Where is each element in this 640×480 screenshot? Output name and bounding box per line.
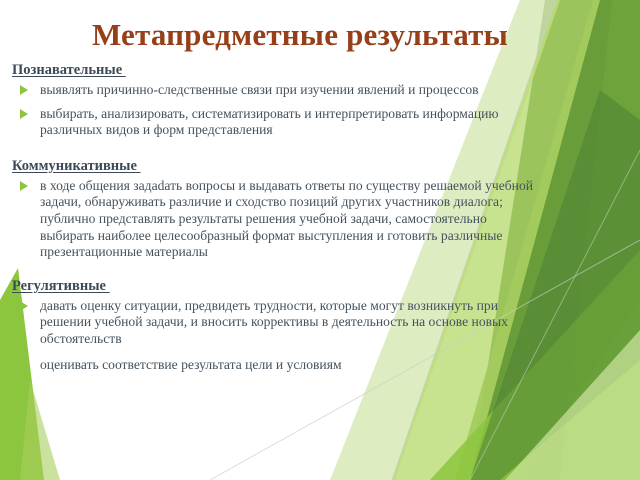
list-item: оценивать соответствие результата цели и… (12, 357, 536, 374)
spacer (12, 147, 536, 157)
decor-wedge-left-pale (20, 380, 60, 480)
decor-band-bright-right (560, 0, 640, 480)
list-item-text: выбирать, анализировать, систематизирова… (40, 106, 499, 138)
list-item: выбирать, анализировать, систематизирова… (12, 106, 536, 139)
triangle-bullet-icon (20, 301, 28, 311)
bullet-list-communicative: в ходе общения задаdать вопросы и выдава… (12, 178, 536, 261)
list-item-text: выявлять причинно-следственные связи при… (40, 82, 479, 97)
bullet-list-regulative: давать оценку ситуации, предвидеть трудн… (12, 298, 536, 373)
triangle-bullet-icon (20, 85, 28, 95)
section-cognitive: Познавательные выявлять причинно-следств… (12, 61, 536, 139)
slide-body: Познавательные выявлять причинно-следств… (12, 61, 536, 380)
list-item: давать оценку ситуации, предвидеть трудн… (12, 298, 536, 348)
section-communicative: Коммуникативные в ходе общения задаdать … (12, 157, 536, 261)
section-heading-communicative: Коммуникативные (12, 157, 141, 176)
list-item-text: давать оценку ситуации, предвидеть трудн… (40, 298, 508, 346)
section-regulative: Регулятивные давать оценку ситуации, пре… (12, 277, 536, 373)
list-item: выявлять причинно-следственные связи при… (12, 82, 536, 99)
section-heading-regulative: Регулятивные (12, 277, 110, 296)
triangle-bullet-icon (20, 181, 28, 191)
section-heading-cognitive: Познавательные (12, 61, 126, 80)
triangle-bullet-icon (20, 109, 28, 119)
list-item-text: оценивать соответствие результата цели и… (40, 357, 342, 372)
slide-title: Метапредметные результаты (0, 16, 600, 54)
list-item: в ходе общения задаdать вопросы и выдава… (12, 178, 536, 261)
spacer (12, 267, 536, 277)
bullet-list-cognitive: выявлять причинно-следственные связи при… (12, 82, 536, 139)
presentation-slide: Метапредметные результаты Познавательные… (0, 0, 640, 480)
list-item-text: в ходе общения задаdать вопросы и выдава… (40, 178, 533, 259)
